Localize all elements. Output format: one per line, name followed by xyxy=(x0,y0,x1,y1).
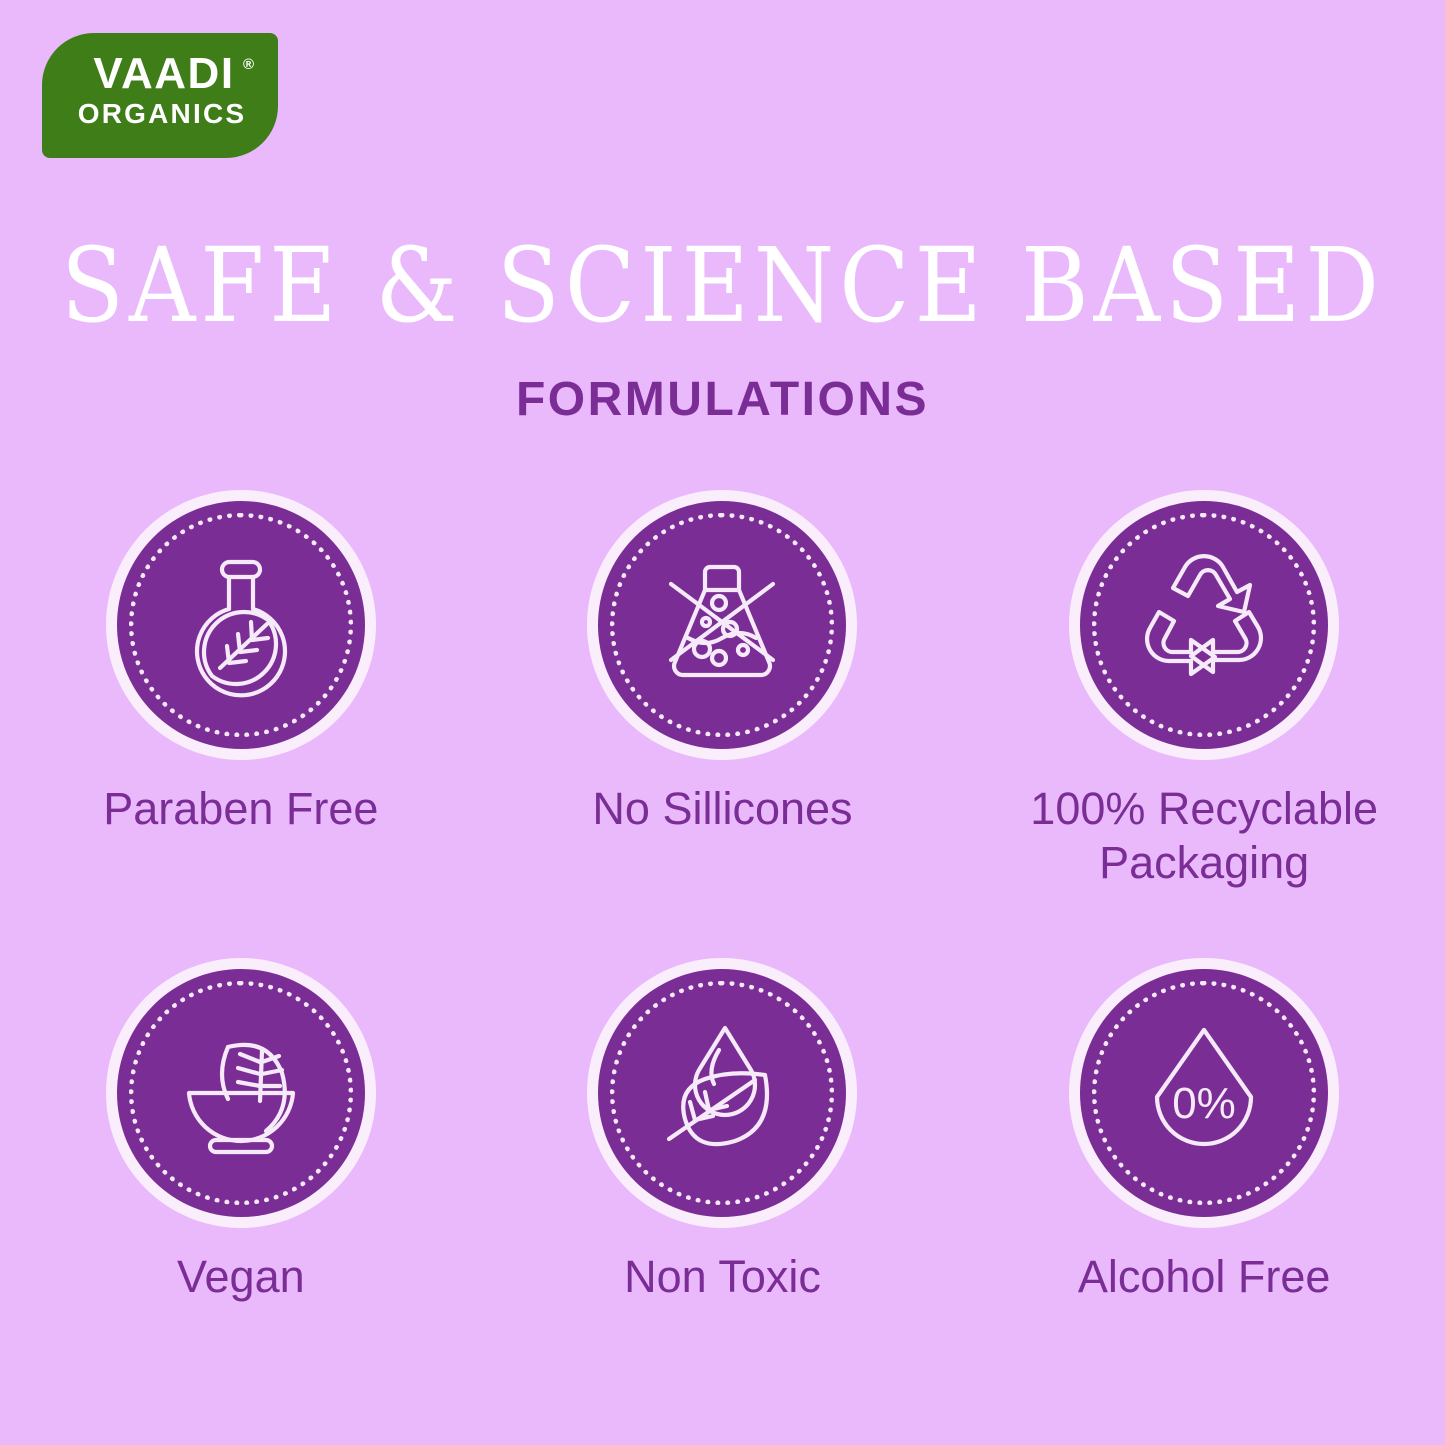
feature-badge-label: 100% Recyclable Packaging xyxy=(1030,782,1378,890)
feature-badge-alcohol-free: 0% Alcohol Free xyxy=(963,958,1445,1304)
badge-inner-circle xyxy=(117,501,365,749)
badge-inner-circle: 0% xyxy=(1080,969,1328,1217)
recycle-icon xyxy=(1129,550,1279,700)
feature-badge-non-toxic: Non Toxic xyxy=(482,958,964,1304)
feature-badge-grid: Paraben Free xyxy=(0,490,1445,1304)
badge-inner-circle xyxy=(598,501,846,749)
badge-disc xyxy=(587,958,857,1228)
droplet-zero-percent-icon: 0% xyxy=(1129,1018,1279,1168)
flask-crossed-out-icon xyxy=(647,550,797,700)
feature-badge-recyclable-packaging: 100% Recyclable Packaging xyxy=(963,490,1445,890)
droplet-zero-percent-text: 0% xyxy=(1172,1079,1236,1128)
page-subtitle: FORMULATIONS xyxy=(0,372,1445,428)
badge-inner-circle xyxy=(117,969,365,1217)
badge-disc xyxy=(106,958,376,1228)
page-title: SAFE & SCIENCE BASED xyxy=(0,228,1445,344)
feature-badge-label: Alcohol Free xyxy=(1078,1250,1331,1304)
brand-logo: VAADI ® ORGANICS xyxy=(42,33,278,158)
brand-logo-subname: ORGANICS xyxy=(42,97,278,131)
feature-badge-label: Vegan xyxy=(177,1250,305,1304)
feature-badge-label: No Sillicones xyxy=(592,782,852,836)
badge-inner-circle xyxy=(598,969,846,1217)
feature-badge-vegan: Vegan xyxy=(0,958,482,1304)
bowl-leaf-icon xyxy=(166,1018,316,1168)
badge-disc xyxy=(587,490,857,760)
flask-round-leaf-icon xyxy=(166,550,316,700)
feature-badge-label: Paraben Free xyxy=(103,782,378,836)
feature-badge-no-sillicones: No Sillicones xyxy=(482,490,964,890)
badge-disc xyxy=(1069,490,1339,760)
badge-inner-circle xyxy=(1080,501,1328,749)
feature-badge-paraben-free: Paraben Free xyxy=(0,490,482,890)
droplet-leaf-icon xyxy=(647,1018,797,1168)
registered-trademark-icon: ® xyxy=(243,57,254,72)
feature-badge-label: Non Toxic xyxy=(624,1250,821,1304)
badge-disc: 0% xyxy=(1069,958,1339,1228)
badge-disc xyxy=(106,490,376,760)
